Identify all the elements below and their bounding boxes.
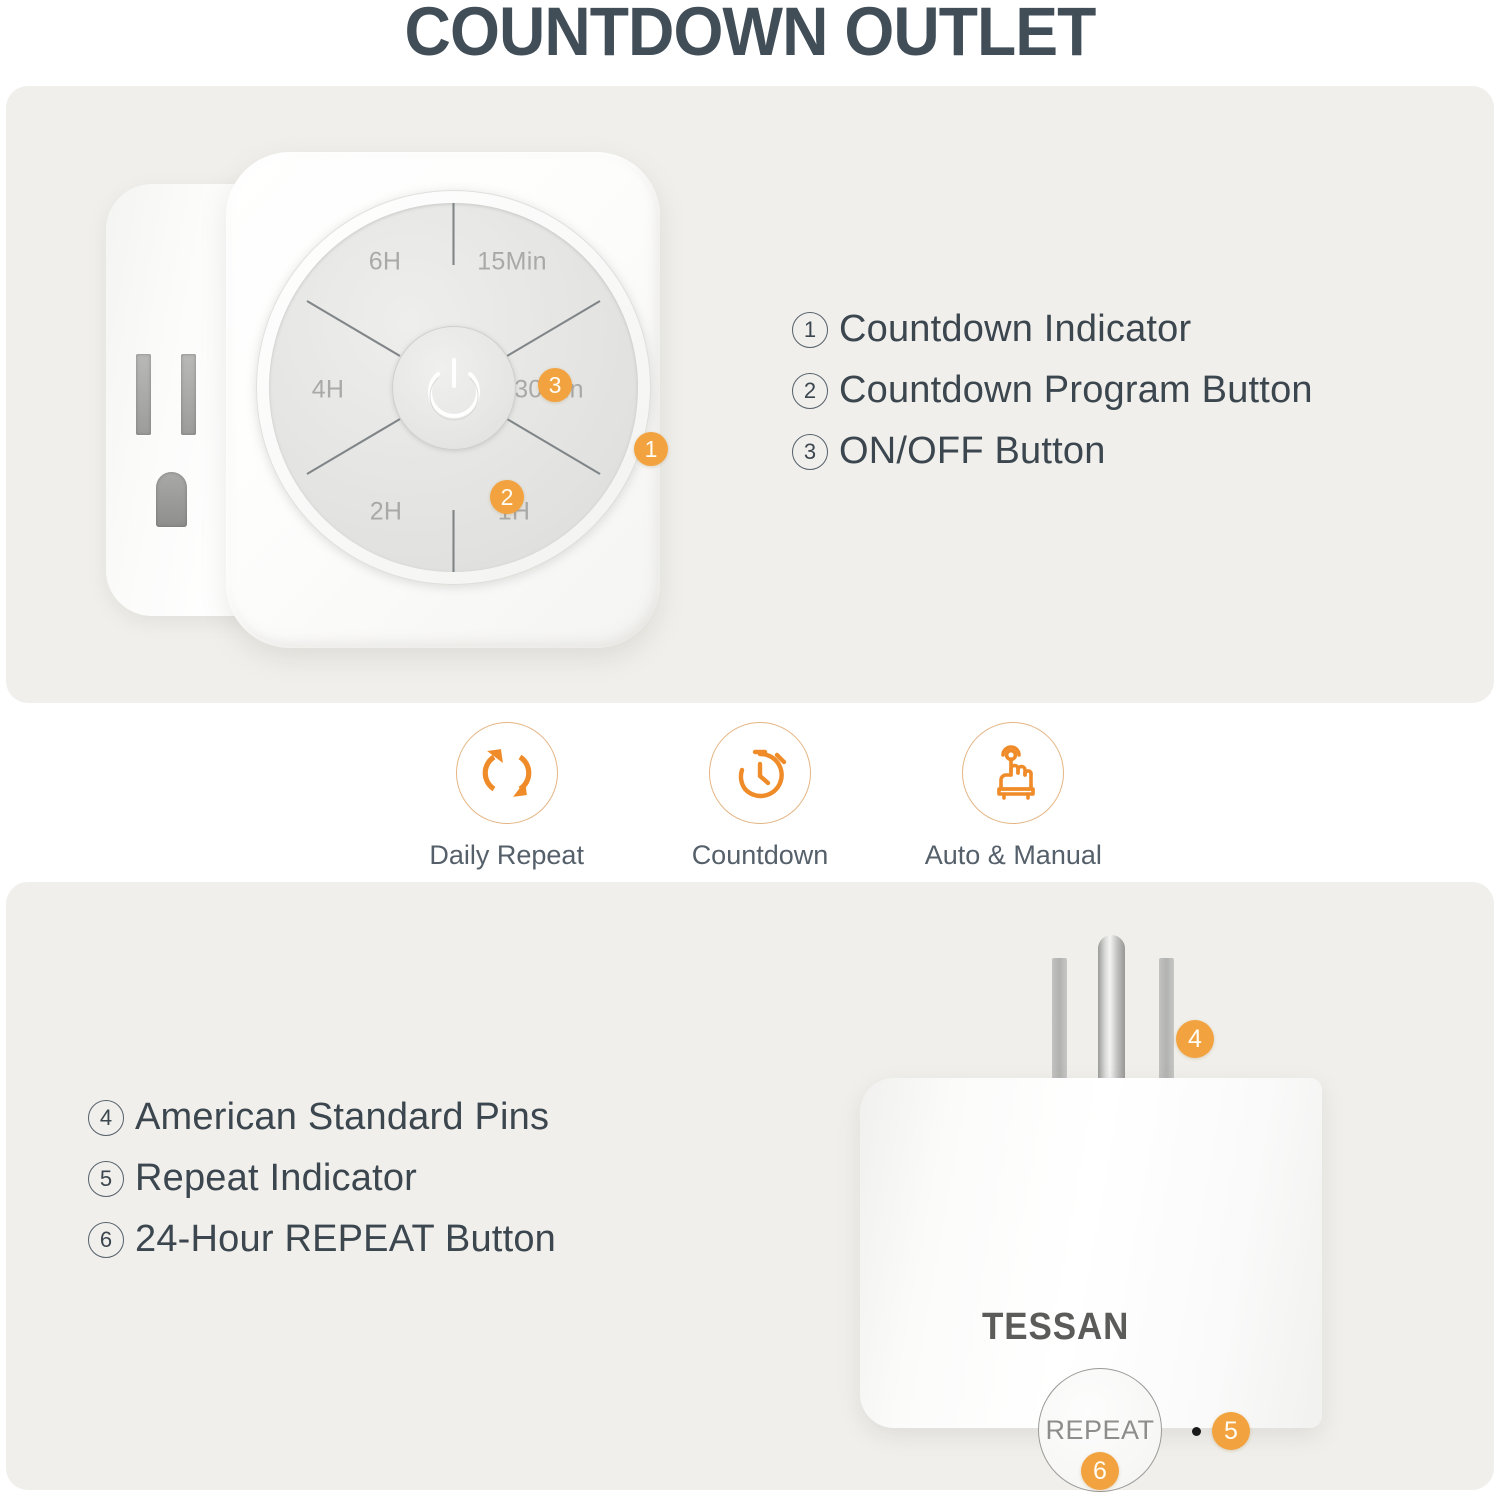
plug-pin-right-blade bbox=[1159, 958, 1174, 1082]
on-off-button[interactable] bbox=[392, 326, 516, 450]
plug-pin-ground bbox=[1098, 935, 1125, 1085]
callout-number-6: 6 bbox=[88, 1222, 124, 1258]
countdown-outlet-front-view: 6H 15Min 30Min 1H 2H 4H 3 2 1 bbox=[98, 140, 678, 660]
feature-circle-countdown bbox=[709, 722, 811, 824]
dial-label-15min[interactable]: 15Min bbox=[477, 248, 547, 277]
feature-daily-repeat: Daily Repeat bbox=[380, 722, 633, 871]
badge-2[interactable]: 2 bbox=[490, 480, 524, 514]
page-title: COUNTDOWN OUTLET bbox=[53, 0, 1448, 71]
countdown-dial[interactable]: 6H 15Min 30Min 1H 2H 4H 3 2 1 bbox=[256, 190, 651, 585]
callout-number-2: 2 bbox=[792, 373, 828, 409]
feature-auto-manual: Auto & Manual bbox=[887, 722, 1140, 871]
feature-row: Daily Repeat Countdown bbox=[380, 722, 1140, 871]
callout-number-4: 4 bbox=[88, 1100, 124, 1136]
power-icon bbox=[418, 352, 490, 424]
callout-item-countdown-indicator: 1 Countdown Indicator bbox=[792, 308, 1313, 351]
badge-5[interactable]: 5 bbox=[1212, 1412, 1250, 1450]
plug-pin-left-blade bbox=[1052, 958, 1067, 1082]
repeat-button-label: REPEAT bbox=[1045, 1415, 1154, 1446]
repeat-indicator-led bbox=[1192, 1427, 1201, 1436]
callout-number-3: 3 bbox=[792, 434, 828, 470]
outlet-slot-left bbox=[136, 354, 151, 435]
dial-label-6h[interactable]: 6H bbox=[369, 248, 402, 277]
countdown-outlet-back-view: 4 TESSAN REPEAT 6 5 bbox=[852, 930, 1322, 1475]
bottom-callout-list: 4 American Standard Pins 5 Repeat Indica… bbox=[88, 1096, 556, 1279]
brand-logo: TESSAN bbox=[982, 1306, 1129, 1349]
callout-number-5: 5 bbox=[88, 1161, 124, 1197]
callout-item-on-off-button: 3 ON/OFF Button bbox=[792, 430, 1313, 473]
outlet-slot-right bbox=[181, 354, 196, 435]
callout-label-2: Countdown Program Button bbox=[839, 369, 1313, 412]
feature-countdown: Countdown bbox=[633, 722, 886, 871]
callout-label-3: ON/OFF Button bbox=[839, 430, 1106, 473]
callout-label-6: 24-Hour REPEAT Button bbox=[135, 1218, 556, 1261]
dial-label-4h[interactable]: 4H bbox=[312, 376, 345, 405]
infographic-stage: COUNTDOWN OUTLET 6H bbox=[0, 0, 1500, 1497]
feature-circle-auto-manual bbox=[962, 722, 1064, 824]
feature-label-auto-manual: Auto & Manual bbox=[887, 840, 1140, 871]
feature-circle-daily-repeat bbox=[456, 722, 558, 824]
callout-label-5: Repeat Indicator bbox=[135, 1157, 417, 1200]
stopwatch-icon bbox=[729, 742, 791, 804]
callout-item-repeat-button: 6 24-Hour REPEAT Button bbox=[88, 1218, 556, 1261]
feature-label-daily-repeat: Daily Repeat bbox=[380, 840, 633, 871]
top-callout-list: 1 Countdown Indicator 2 Countdown Progra… bbox=[792, 308, 1313, 491]
badge-1[interactable]: 1 bbox=[634, 432, 668, 466]
dial-label-2h[interactable]: 2H bbox=[370, 498, 403, 527]
plug-body: TESSAN REPEAT 6 5 bbox=[860, 1078, 1322, 1428]
badge-4[interactable]: 4 bbox=[1176, 1020, 1214, 1058]
callout-item-countdown-program-button: 2 Countdown Program Button bbox=[792, 369, 1313, 412]
outlet-ground-hole bbox=[156, 472, 187, 527]
callout-label-1: Countdown Indicator bbox=[839, 308, 1191, 351]
callout-label-4: American Standard Pins bbox=[135, 1096, 549, 1139]
badge-6[interactable]: 6 bbox=[1081, 1452, 1119, 1490]
repeat-cycle-icon bbox=[476, 742, 538, 804]
callout-item-repeat-indicator: 5 Repeat Indicator bbox=[88, 1157, 556, 1200]
callout-number-1: 1 bbox=[792, 312, 828, 348]
feature-label-countdown: Countdown bbox=[633, 840, 886, 871]
callout-item-american-standard-pins: 4 American Standard Pins bbox=[88, 1096, 556, 1139]
hand-tap-icon bbox=[982, 742, 1044, 804]
badge-3[interactable]: 3 bbox=[538, 368, 572, 402]
